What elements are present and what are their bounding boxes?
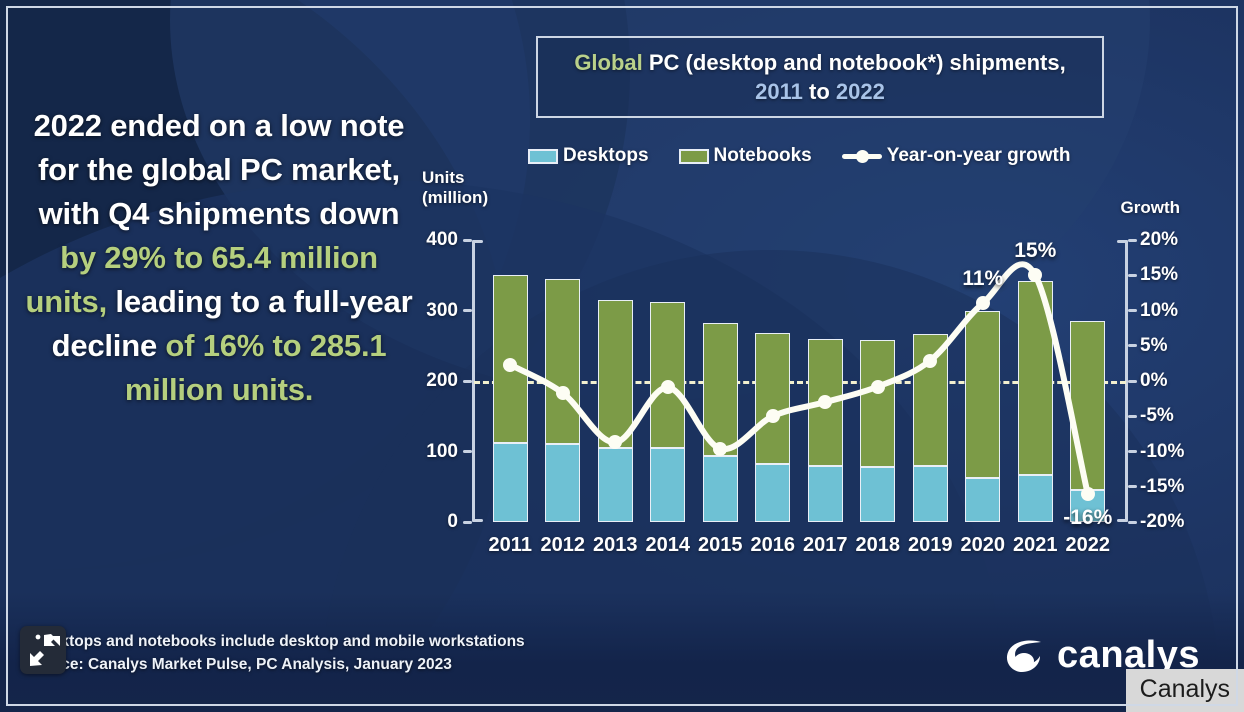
growth-label-2021: 15% xyxy=(1014,239,1056,263)
x-axis-label-2013: 2013 xyxy=(589,534,642,557)
x-axis-label-2019: 2019 xyxy=(904,534,957,557)
headline-part-1: 2022 ended on a low note for the global … xyxy=(34,108,405,231)
growth-line xyxy=(510,264,1088,494)
legend-item-growth: Year-on-year growth xyxy=(842,145,1071,167)
growth-point-2015[interactable] xyxy=(713,442,727,456)
y-tick xyxy=(463,309,472,312)
y-tick-label: 0 xyxy=(447,511,458,533)
chart-title: Global PC (desktop and notebook*) shipme… xyxy=(574,48,1065,106)
y-tick xyxy=(463,521,472,524)
watermark-label: Canalys xyxy=(1126,669,1244,712)
y2-tick-label: -15% xyxy=(1140,476,1184,498)
growth-point-2018[interactable] xyxy=(871,380,885,394)
x-axis-label-2016: 2016 xyxy=(747,534,800,557)
legend-item-notebooks: Notebooks xyxy=(679,145,812,167)
footnote-text: *Desktops and notebooks include desktop … xyxy=(26,631,525,653)
x-axis-label-2020: 2020 xyxy=(957,534,1010,557)
legend-swatch-notebooks xyxy=(679,149,709,164)
y2-tick xyxy=(1128,344,1137,347)
y2-tick-label: 15% xyxy=(1140,264,1178,286)
growth-line-layer xyxy=(484,240,1114,522)
headline-text: 2022 ended on a low note for the global … xyxy=(24,104,414,412)
headline-accent-2: of 16% to 285.1 million units. xyxy=(125,328,387,407)
chart-title-box: Global PC (desktop and notebook*) shipme… xyxy=(536,36,1104,118)
x-axis-label-2022: 2022 xyxy=(1062,534,1115,557)
x-axis-label-2017: 2017 xyxy=(799,534,852,557)
y2-tick xyxy=(1128,309,1137,312)
x-axis-label-2021: 2021 xyxy=(1009,534,1062,557)
cursor-overlay-badge xyxy=(20,626,66,674)
growth-point-2012[interactable] xyxy=(556,386,570,400)
y2-tick xyxy=(1128,485,1137,488)
chart-title-global: Global xyxy=(574,50,642,75)
y2-axis-title: Growth xyxy=(1121,198,1181,218)
y-tick-label: 200 xyxy=(426,370,458,392)
x-axis-label-2018: 2018 xyxy=(852,534,905,557)
y-axis-title: Units(million) xyxy=(422,168,488,209)
canalys-logo-icon xyxy=(1003,634,1045,676)
legend-swatch-desktops xyxy=(528,149,558,164)
legend-label-desktops: Desktops xyxy=(563,145,649,167)
growth-point-2019[interactable] xyxy=(923,354,937,368)
y2-tick xyxy=(1128,274,1137,277)
y2-tick-label: 10% xyxy=(1140,300,1178,322)
growth-point-2022[interactable] xyxy=(1081,487,1095,501)
y2-tick xyxy=(1128,450,1137,453)
source-text: Source: Canalys Market Pulse, PC Analysi… xyxy=(26,654,525,676)
y2-tick-label: -20% xyxy=(1140,511,1184,533)
chart-area: Units(million) Growth 0100200300400 -20%… xyxy=(420,168,1180,568)
x-axis-label-2012: 2012 xyxy=(537,534,590,557)
slide-frame: 2022 ended on a low note for the global … xyxy=(0,0,1244,712)
y2-tick xyxy=(1128,380,1137,383)
y2-tick-label: -10% xyxy=(1140,441,1184,463)
y2-tick-label: 5% xyxy=(1140,335,1167,357)
move-cursor-icon xyxy=(20,626,66,674)
chart-title-year-to: 2022 xyxy=(836,79,885,104)
footer-notes: *Desktops and notebooks include desktop … xyxy=(26,631,525,676)
growth-point-2016[interactable] xyxy=(766,409,780,423)
y-tick-label: 300 xyxy=(426,300,458,322)
y2-tick-label: 0% xyxy=(1140,370,1167,392)
chart-legend: Desktops Notebooks Year-on-year growth xyxy=(528,142,1128,170)
y2-tick xyxy=(1128,521,1137,524)
y2-tick xyxy=(1128,415,1137,418)
growth-point-2011[interactable] xyxy=(503,358,517,372)
x-axis-label-2014: 2014 xyxy=(642,534,695,557)
y-tick-label: 100 xyxy=(426,441,458,463)
growth-point-2014[interactable] xyxy=(661,380,675,394)
legend-label-notebooks: Notebooks xyxy=(714,145,812,167)
y2-tick-label: -5% xyxy=(1140,405,1174,427)
y-tick xyxy=(463,380,472,383)
y2-tick-label: 20% xyxy=(1140,229,1178,251)
growth-label-2020: 11% xyxy=(962,267,1003,291)
y-tick xyxy=(463,450,472,453)
chart-title-year-from: 2011 xyxy=(755,79,803,104)
legend-label-growth: Year-on-year growth xyxy=(887,145,1071,167)
legend-line-icon xyxy=(842,149,882,163)
legend-item-desktops: Desktops xyxy=(528,145,649,167)
y-tick-label: 400 xyxy=(426,229,458,251)
chart-title-mid: PC (desktop and notebook*) shipments, xyxy=(643,50,1066,75)
y2-tick xyxy=(1128,239,1137,242)
y-tick xyxy=(463,239,472,242)
x-axis-label-2011: 2011 xyxy=(484,534,537,557)
growth-label-2022: -16% xyxy=(1063,506,1112,530)
chart-title-to: to xyxy=(809,79,830,104)
plot-area: 0100200300400 -20%-15%-10%-5%0%5%10%15%2… xyxy=(484,240,1114,522)
x-axis-label-2015: 2015 xyxy=(694,534,747,557)
